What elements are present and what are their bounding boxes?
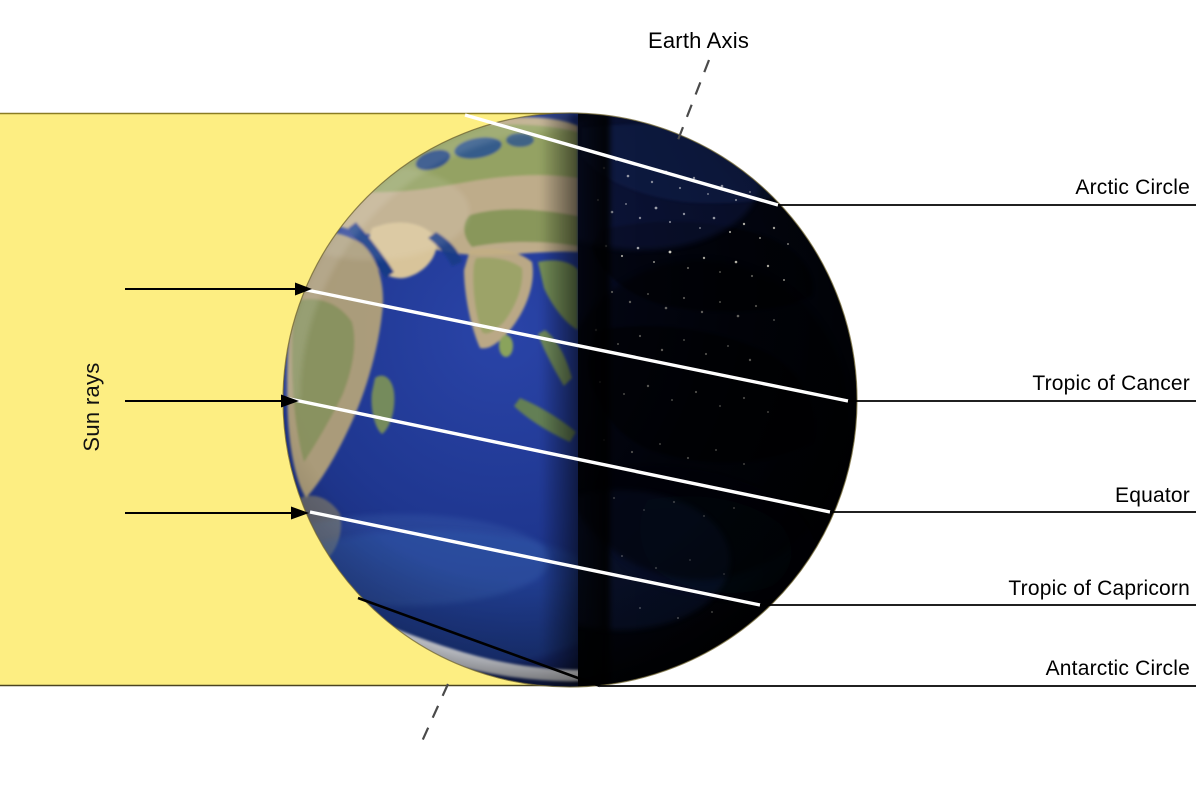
earth-axis-label: Earth Axis: [648, 28, 749, 54]
tropic-of-capricorn-label: Tropic of Capricorn: [835, 577, 1190, 601]
earth-illumination-diagram: Earth Axis Sun rays Arctic Circle Tropic…: [0, 0, 1200, 788]
sun-rays-label: Sun rays: [79, 307, 105, 507]
arctic-circle-label: Arctic Circle: [835, 176, 1190, 200]
equator-label: Equator: [835, 484, 1190, 508]
antarctic-circle-label: Antarctic Circle: [835, 657, 1190, 681]
tropic-of-cancer-label: Tropic of Cancer: [835, 372, 1190, 396]
